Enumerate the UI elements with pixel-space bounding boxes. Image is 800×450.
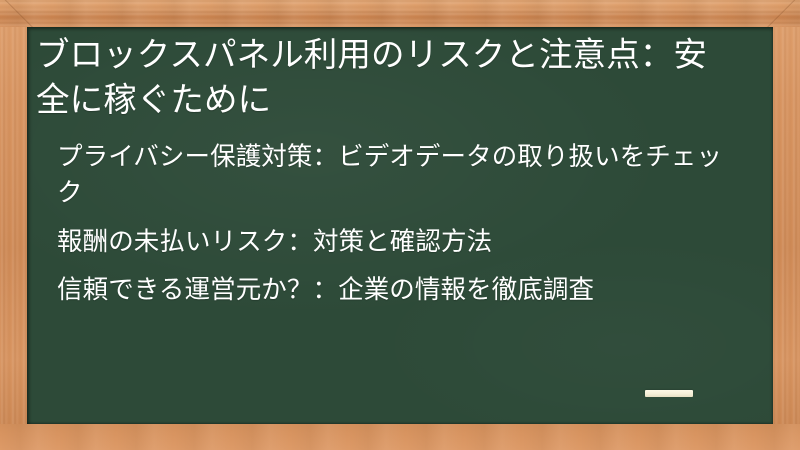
chalkboard-surface: ブロックスパネル利用のリスクと注意点：安全に稼ぐために プライバシー保護対策：ビ…: [27, 27, 773, 424]
list-item: プライバシー保護対策：ビデオデータの取り扱いをチェック: [57, 139, 725, 211]
list-item: 報酬の未払いリスク：対策と確認方法: [57, 224, 725, 260]
wooden-frame-top-rail: [0, 0, 800, 27]
list-item: 信頼できる運営元か？：企業の情報を徹底調査: [57, 272, 725, 308]
wooden-frame-bottom-rail: [0, 424, 800, 450]
chalkboard-slide: ブロックスパネル利用のリスクと注意点：安全に稼ぐために プライバシー保護対策：ビ…: [0, 0, 800, 450]
topic-list: プライバシー保護対策：ビデオデータの取り扱いをチェック 報酬の未払いリスク：対策…: [36, 139, 757, 308]
page-title: ブロックスパネル利用のリスクと注意点：安全に稼ぐために: [36, 33, 736, 122]
chalk-stick-icon: [645, 390, 693, 397]
chalkboard-content: ブロックスパネル利用のリスクと注意点：安全に稼ぐために プライバシー保護対策：ビ…: [27, 27, 773, 424]
